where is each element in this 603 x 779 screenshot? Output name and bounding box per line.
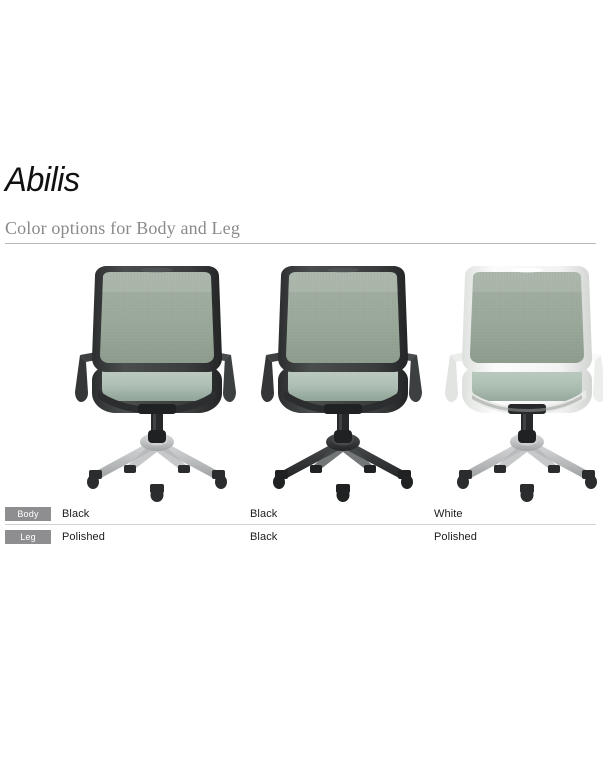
row-label-leg: Leg xyxy=(5,530,51,544)
leg-value-chair-3: Polished xyxy=(434,528,477,546)
row-label-body: Body xyxy=(5,507,51,521)
chair-illustration xyxy=(62,262,252,502)
chair-illustration xyxy=(248,262,438,502)
chair-gallery xyxy=(0,262,603,502)
chair-backrest xyxy=(462,266,592,372)
color-options-table: Body Black Black White Leg Polished Blac… xyxy=(0,504,603,547)
table-row: Body Black Black White xyxy=(0,504,603,524)
body-value-chair-2: Black xyxy=(250,505,277,523)
row-divider xyxy=(5,524,596,525)
chair-image-3 xyxy=(432,262,603,502)
chair-image-1 xyxy=(62,262,252,502)
body-value-chair-1: Black xyxy=(62,505,89,523)
header-divider xyxy=(5,243,596,244)
leg-value-chair-1: Polished xyxy=(62,528,105,546)
chair-backrest xyxy=(92,266,222,372)
chair-illustration xyxy=(432,262,603,502)
chair-image-2 xyxy=(248,262,438,502)
body-value-chair-3: White xyxy=(434,505,463,523)
chair-backrest xyxy=(278,266,408,372)
page-subtitle: Color options for Body and Leg xyxy=(5,219,240,237)
leg-value-chair-2: Black xyxy=(250,528,277,546)
table-row: Leg Polished Black Polished xyxy=(0,527,603,547)
page-title: Abilis xyxy=(5,163,80,197)
